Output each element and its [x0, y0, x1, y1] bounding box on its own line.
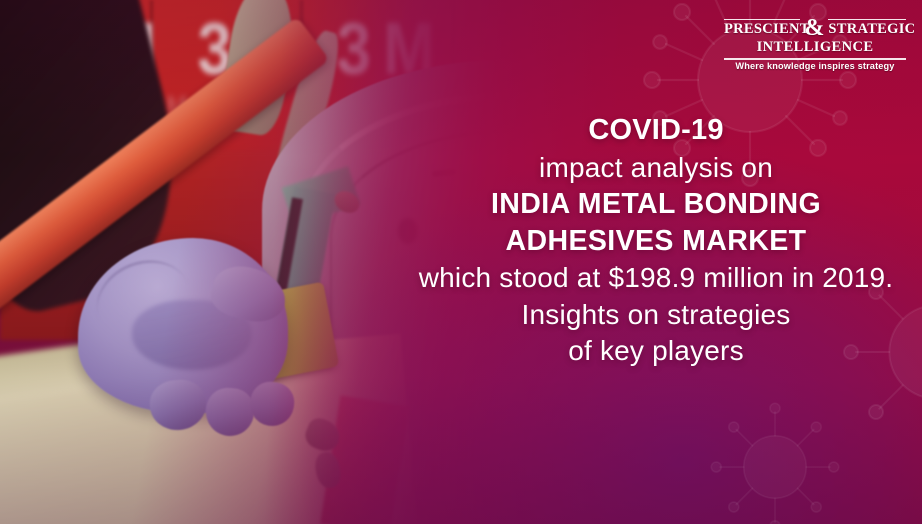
company-logo[interactable]: PRESCIENT & STRATEGIC INTELLIGENCE Where…: [724, 18, 906, 71]
headline-line-players: of key players: [392, 333, 920, 369]
logo-rule-tagline: [724, 58, 906, 60]
logo-left-segment: PRESCIENT: [724, 19, 800, 38]
covid-impact-banner: 3M 3M 3M 3M 3M 3M 3M: [0, 0, 922, 524]
headline-line-market-2: ADHESIVES MARKET: [392, 223, 920, 260]
logo-word-strategic: STRATEGIC: [828, 22, 906, 37]
headline-line-market-1: INDIA METAL BONDING: [392, 186, 920, 223]
headline-line-insights: Insights on strategies: [392, 297, 920, 333]
logo-word-intelligence: INTELLIGENCE: [724, 39, 906, 56]
headline-line-value: which stood at $198.9 million in 2019.: [392, 260, 920, 296]
headline-block: COVID-19 impact analysis on INDIA METAL …: [392, 112, 920, 369]
logo-word-prescient: PRESCIENT: [724, 22, 800, 37]
logo-ampersand: &: [803, 18, 825, 38]
headline-line-impact: impact analysis on: [392, 150, 920, 186]
logo-right-segment: STRATEGIC: [828, 19, 906, 38]
logo-tagline: Where knowledge inspires strategy: [724, 61, 906, 71]
logo-rule-right: [828, 19, 906, 21]
logo-primary-row: PRESCIENT & STRATEGIC: [724, 18, 906, 38]
headline-line-covid: COVID-19: [392, 112, 920, 150]
logo-rule-left: [724, 19, 800, 21]
